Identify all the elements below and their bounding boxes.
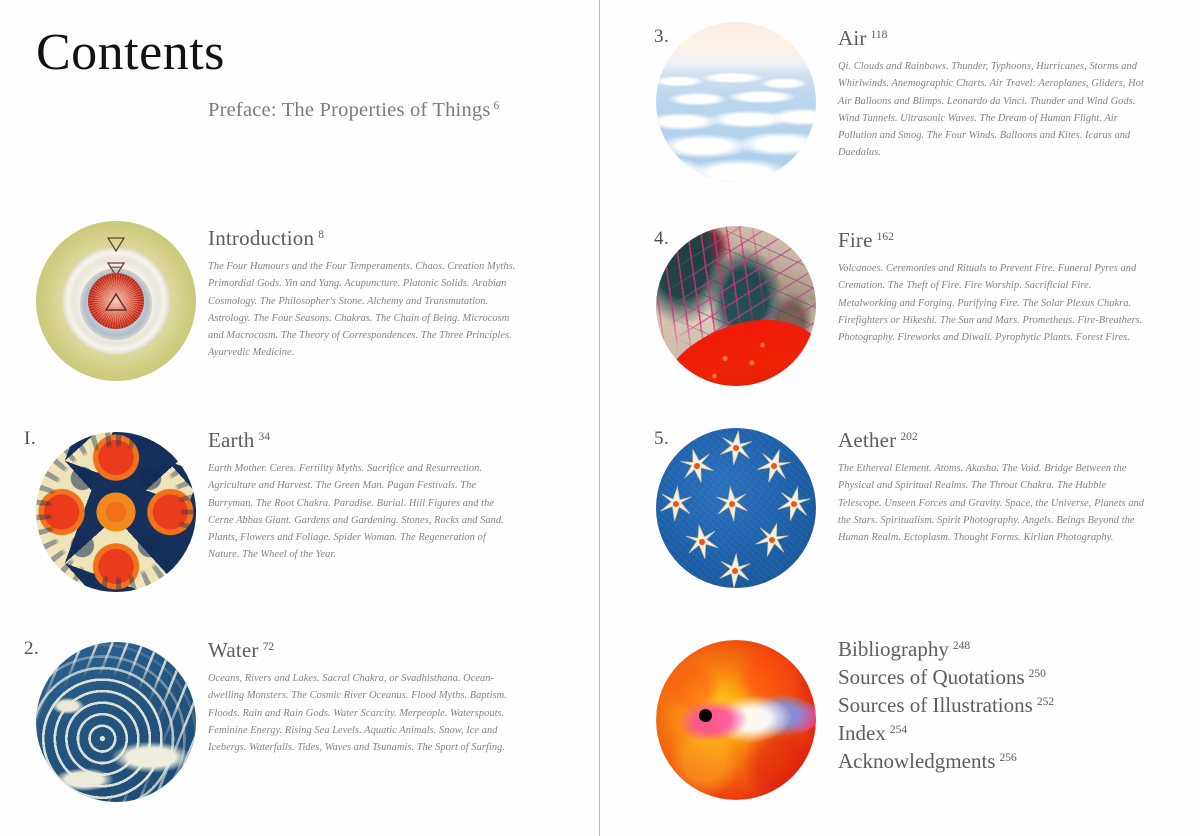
back-matter-list: Bibliography248 Sources of Quotations250… xyxy=(838,636,1158,776)
entry-page-number: 202 xyxy=(900,431,917,443)
back-matter-page-number: 250 xyxy=(1029,668,1046,680)
back-matter-page-number: 248 xyxy=(953,640,970,652)
entry-title: Earth34 xyxy=(208,428,518,453)
back-matter-thumbnail[interactable] xyxy=(656,640,816,800)
entry-marker-earth: I. xyxy=(24,428,36,450)
whirlpool-wave-print-icon xyxy=(36,642,196,802)
back-matter-item-bibliography[interactable]: Bibliography248 xyxy=(838,636,1158,664)
entry-earth[interactable]: Earth34 Earth Mother. Ceres. Fertility M… xyxy=(208,428,518,564)
art-surface xyxy=(656,226,816,386)
entry-water[interactable]: Water72 Oceans, Rivers and Lakes. Sacral… xyxy=(208,638,518,756)
entry-thumbnail-air[interactable] xyxy=(656,22,816,182)
entry-title: Water72 xyxy=(208,638,518,663)
water-alchemy-glyph xyxy=(107,237,125,252)
entry-thumbnail-water[interactable] xyxy=(36,642,196,802)
entry-description: Earth Mother. Ceres. Fertility Myths. Sa… xyxy=(208,460,518,564)
entry-page-number: 72 xyxy=(263,641,275,653)
entry-thumbnail-fire[interactable] xyxy=(656,226,816,386)
entry-fire[interactable]: Fire162 Volcanoes. Ceremonies and Ritual… xyxy=(838,228,1148,346)
art-surface xyxy=(656,428,816,588)
entry-description: The Four Humours and the Four Temperamen… xyxy=(208,258,518,362)
entry-thumbnail-earth[interactable] xyxy=(36,432,196,592)
back-matter-page-number: 254 xyxy=(890,724,907,736)
blue-star-field-icon xyxy=(656,428,816,588)
entry-title: Fire162 xyxy=(838,228,1148,253)
sun-nebula-sphere-icon xyxy=(656,640,816,800)
entry-aether[interactable]: Aether202 The Ethereal Element. Atoms. A… xyxy=(838,428,1148,546)
entry-page-number: 8 xyxy=(318,229,324,241)
left-page: Contents Preface: The Properties of Thin… xyxy=(0,0,600,836)
entry-description: The Ethereal Element. Atoms. Akasha. The… xyxy=(838,460,1148,546)
back-matter-item-index[interactable]: Index254 xyxy=(838,720,1158,748)
masthead: Contents xyxy=(36,26,556,81)
book-spread: Contents Preface: The Properties of Thin… xyxy=(0,0,1200,836)
back-matter-page-number: 256 xyxy=(999,752,1016,764)
entry-description: Oceans, Rivers and Lakes. Sacral Chakra,… xyxy=(208,670,518,756)
cloud-shapes xyxy=(656,70,816,182)
art-surface xyxy=(36,221,196,381)
volcanic-strata-map-icon xyxy=(656,226,816,386)
fire-alchemy-glyph xyxy=(104,292,128,312)
preface-page-number: 6 xyxy=(494,100,500,112)
cloud-field-sky-icon xyxy=(656,22,816,182)
preface-label: Preface: The Properties of Things xyxy=(208,99,491,121)
art-surface xyxy=(656,22,816,182)
entry-description: Volcanoes. Ceremonies and Rituals to Pre… xyxy=(838,260,1148,346)
entry-title: Introduction8 xyxy=(208,226,518,251)
floral-textile-medallion-icon xyxy=(36,432,196,592)
back-matter-page-number: 252 xyxy=(1037,696,1054,708)
entry-air[interactable]: Air118 Qi. Clouds and Rainbows. Thunder,… xyxy=(838,26,1148,162)
entry-page-number: 162 xyxy=(877,231,894,243)
art-surface xyxy=(36,432,196,592)
entry-title: Aether202 xyxy=(838,428,1148,453)
foam-crests xyxy=(36,642,196,802)
preface-entry[interactable]: Preface: The Properties of Things6 xyxy=(208,99,499,122)
back-matter-item-sources-of-illustrations[interactable]: Sources of Illustrations252 xyxy=(838,692,1158,720)
back-matter-item-sources-of-quotations[interactable]: Sources of Quotations250 xyxy=(838,664,1158,692)
entry-thumbnail-introduction[interactable] xyxy=(36,221,196,381)
back-matter-item-acknowledgments[interactable]: Acknowledgments256 xyxy=(838,748,1158,776)
star-cluster xyxy=(656,428,816,588)
entry-introduction[interactable]: Introduction8 The Four Humours and the F… xyxy=(208,226,518,362)
art-surface xyxy=(656,640,816,800)
entry-title: Air118 xyxy=(838,26,1148,51)
entry-page-number: 118 xyxy=(871,29,888,41)
entry-description: Qi. Clouds and Rainbows. Thunder, Typhoo… xyxy=(838,58,1148,162)
alchemical-rings-diagram-icon xyxy=(36,221,196,381)
page-title: Contents xyxy=(36,26,556,81)
art-surface xyxy=(36,642,196,802)
entry-thumbnail-aether[interactable] xyxy=(656,428,816,588)
entry-page-number: 34 xyxy=(258,431,270,443)
black-dot-marker xyxy=(699,709,712,722)
